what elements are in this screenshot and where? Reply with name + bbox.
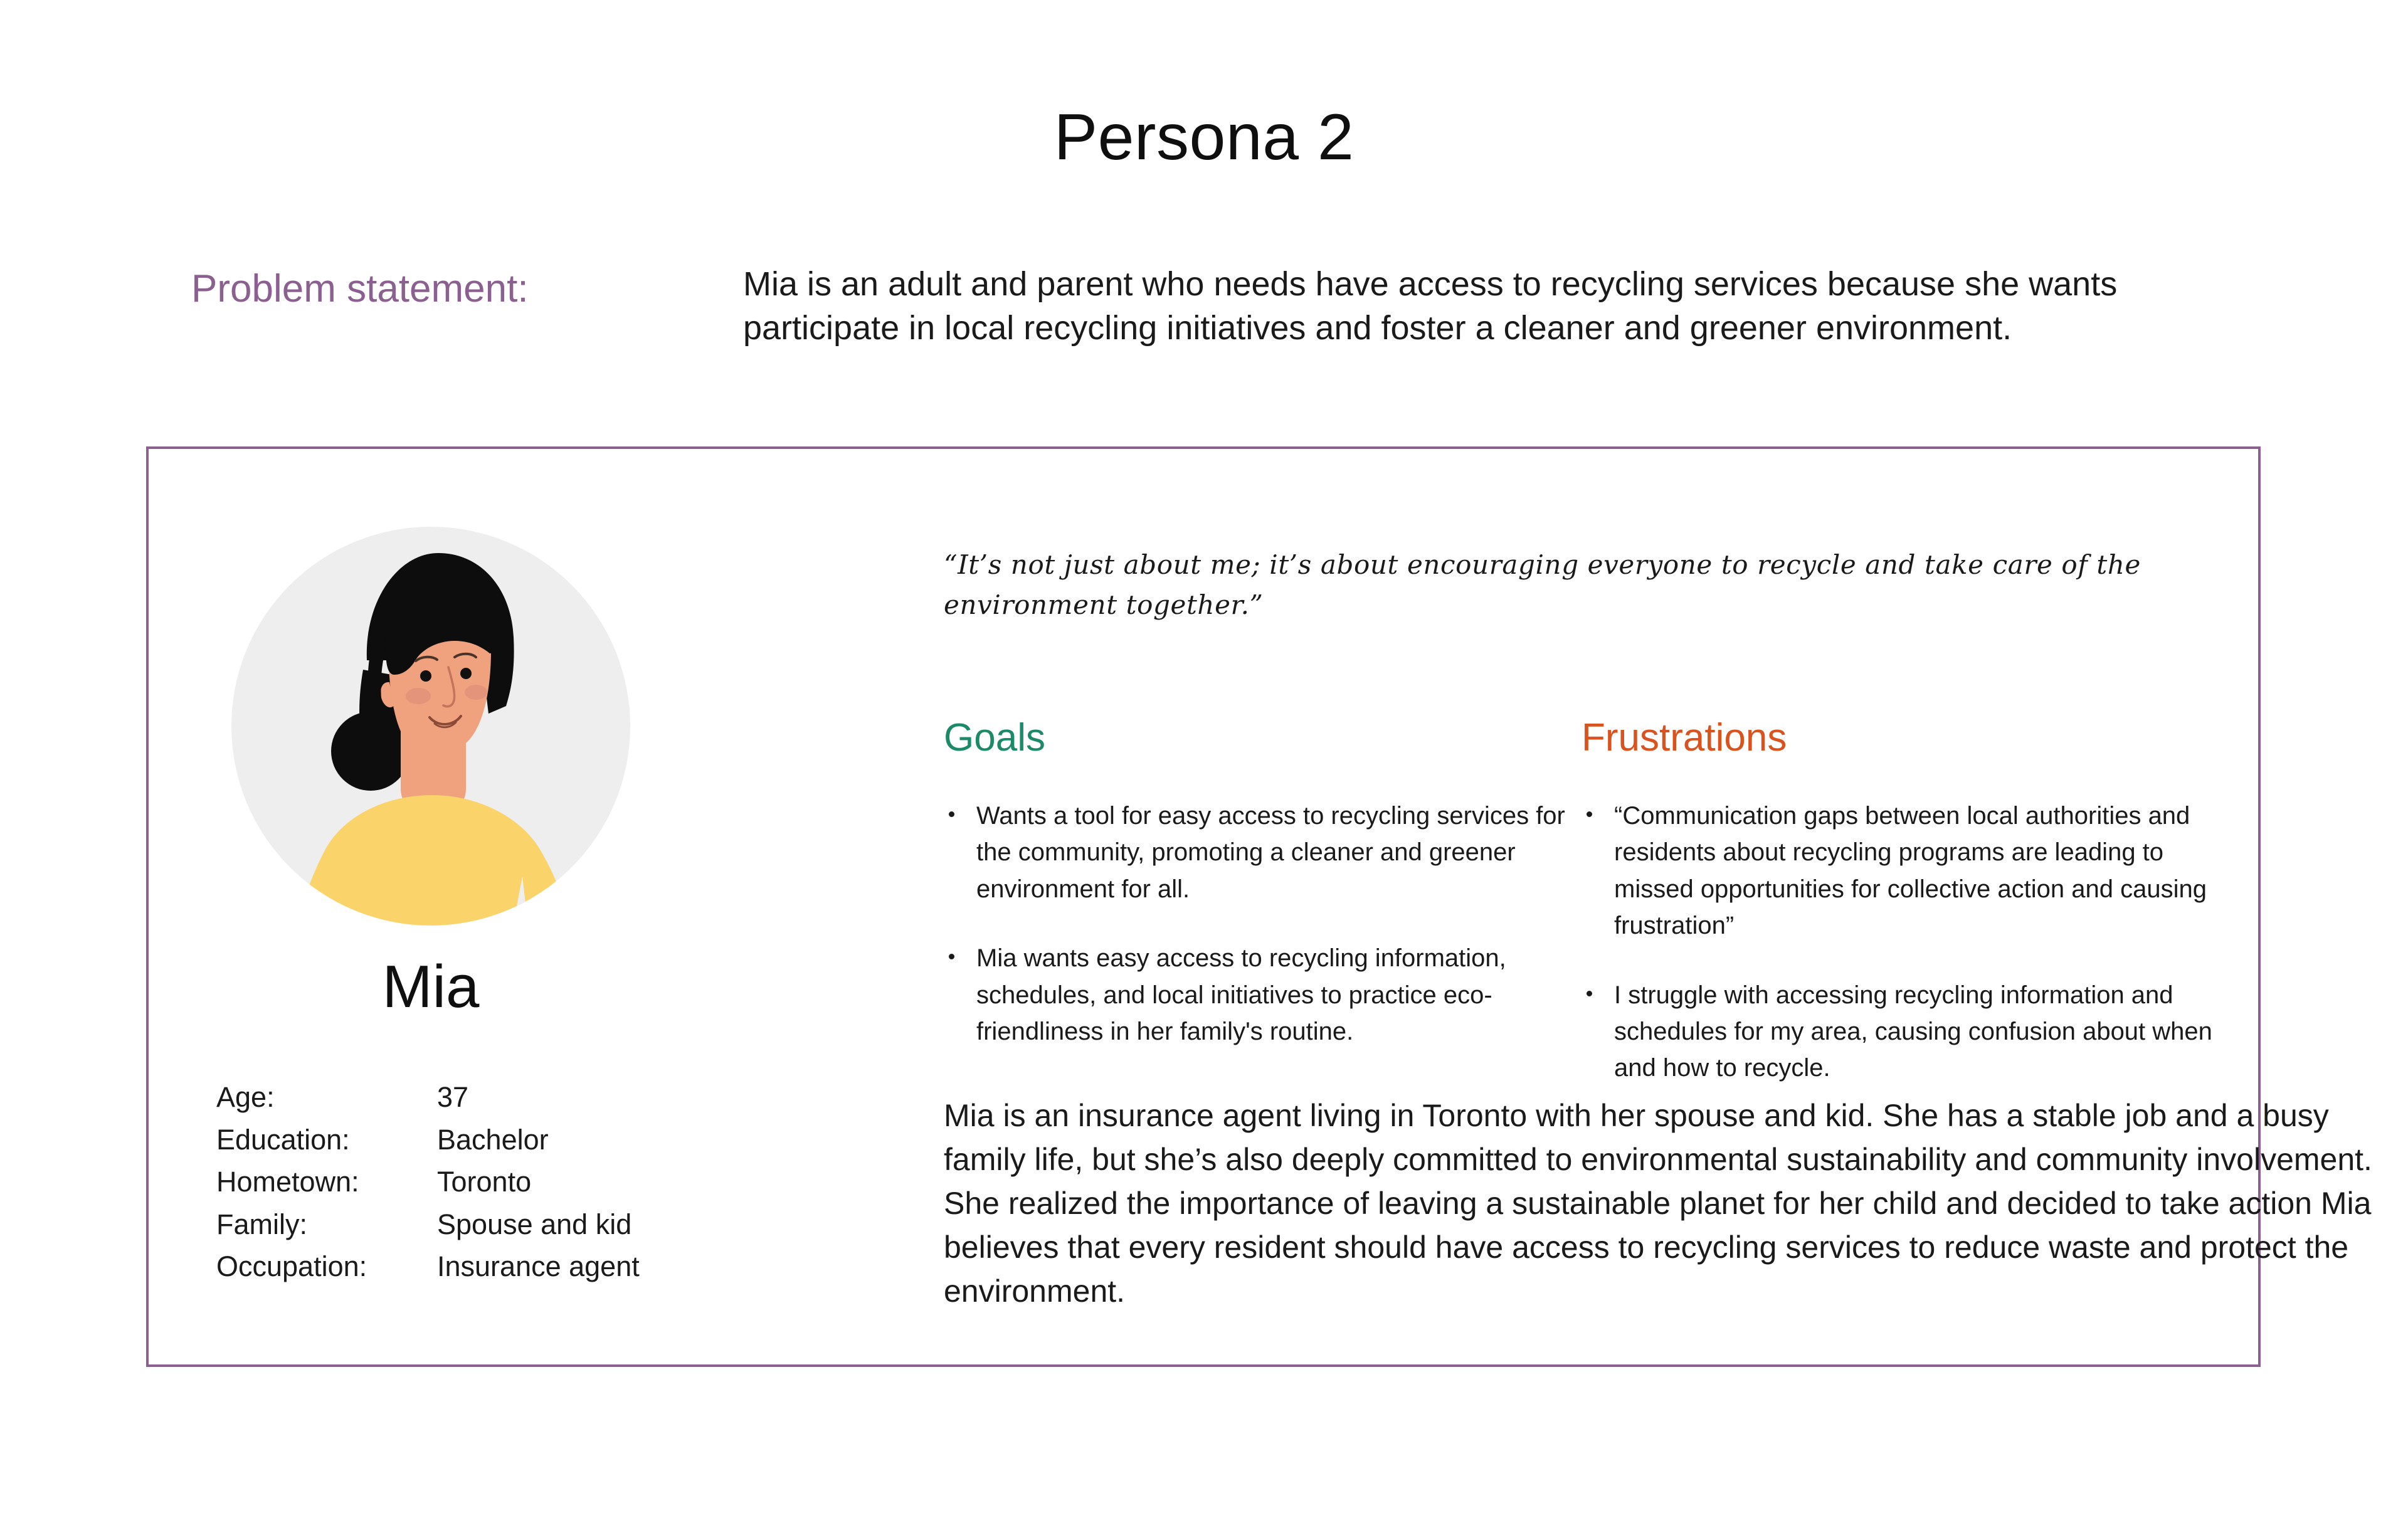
avatar	[230, 525, 631, 927]
demographic-row-family: Family: Spouse and kid	[216, 1203, 640, 1246]
bullet-dot-icon	[1587, 811, 1592, 817]
goals-list: Wants a tool for easy access to recyclin…	[944, 798, 1596, 1050]
page-title: Persona 2	[0, 100, 2408, 175]
problem-statement-label: Problem statement:	[191, 266, 529, 311]
demographics-table: Age: 37 Education: Bachelor Hometown: To…	[216, 1076, 640, 1288]
demographic-value: Spouse and kid	[437, 1203, 631, 1246]
woman-avatar-icon	[230, 525, 631, 927]
demographic-key: Hometown:	[216, 1161, 437, 1203]
problem-statement-text: Mia is an adult and parent who needs hav…	[743, 262, 2267, 350]
list-item: “Communication gaps between local author…	[1582, 798, 2234, 944]
persona-name: Mia	[230, 957, 631, 1017]
goals-section: Goals Wants a tool for easy access to re…	[944, 719, 1596, 1050]
persona-quote: “It’s not just about me; it’s about enco…	[944, 545, 2204, 625]
demographic-key: Education:	[216, 1119, 437, 1161]
frustrations-section: Frustrations “Communication gaps between…	[1582, 719, 2234, 1087]
persona-bio: Mia is an insurance agent living in Toro…	[944, 1094, 2380, 1313]
demographic-row-age: Age: 37	[216, 1076, 640, 1119]
list-item: I struggle with accessing recycling info…	[1582, 977, 2234, 1087]
demographic-key: Occupation:	[216, 1245, 437, 1288]
persona-card: Mia Age: 37 Education: Bachelor Hometown…	[146, 446, 2261, 1367]
list-item: Wants a tool for easy access to recyclin…	[944, 798, 1596, 907]
list-item: Mia wants easy access to recycling infor…	[944, 940, 1596, 1050]
goal-text: Wants a tool for easy access to recyclin…	[976, 802, 1565, 903]
bullet-dot-icon	[1587, 991, 1592, 996]
goal-text: Mia wants easy access to recycling infor…	[976, 944, 1506, 1045]
frustrations-list: “Communication gaps between local author…	[1582, 798, 2234, 1087]
demographic-value: Bachelor	[437, 1119, 549, 1161]
bullet-dot-icon	[949, 954, 954, 959]
demographic-value: Toronto	[437, 1161, 531, 1203]
demographic-value: Insurance agent	[437, 1245, 640, 1288]
demographic-row-hometown: Hometown: Toronto	[216, 1161, 640, 1203]
frustrations-heading: Frustrations	[1582, 719, 2234, 757]
frustration-text: “Communication gaps between local author…	[1614, 802, 2207, 939]
frustration-text: I struggle with accessing recycling info…	[1614, 981, 2212, 1082]
bullet-dot-icon	[949, 811, 954, 817]
goals-heading: Goals	[944, 719, 1596, 757]
demographic-row-education: Education: Bachelor	[216, 1119, 640, 1161]
demographic-value: 37	[437, 1076, 468, 1119]
demographic-key: Age:	[216, 1076, 437, 1119]
demographic-row-occupation: Occupation: Insurance agent	[216, 1245, 640, 1288]
demographic-key: Family:	[216, 1203, 437, 1246]
